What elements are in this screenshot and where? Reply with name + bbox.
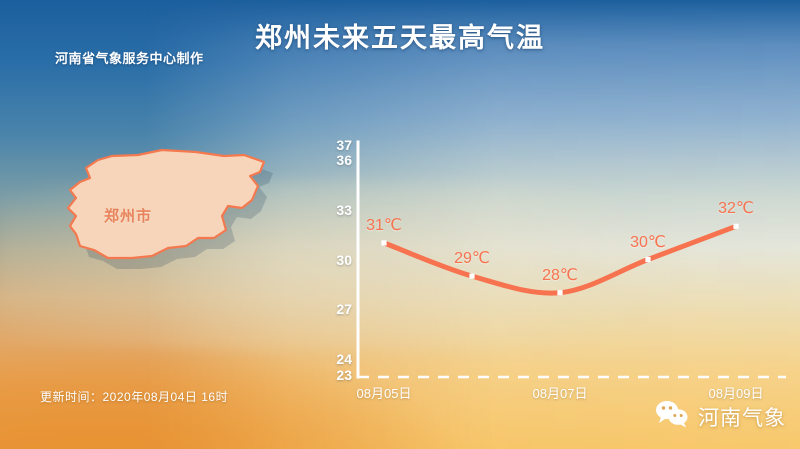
data-point-label: 32℃ — [718, 198, 754, 218]
x-axis-tick: 08月07日 — [533, 383, 588, 402]
wechat-account-name: 河南气象 — [698, 402, 786, 432]
data-point-label: 28℃ — [542, 265, 578, 285]
y-axis-tick: 24 — [318, 351, 352, 367]
data-point-label: 31℃ — [366, 215, 402, 235]
y-axis-tick: 37 — [318, 137, 352, 153]
wechat-account-badge: 河南气象 — [655, 400, 786, 433]
weather-infographic: 郑州未来五天最高气温 河南省气象服务中心制作 郑州市 3736333027242… — [0, 0, 800, 449]
data-point-label: 30℃ — [630, 232, 666, 252]
y-axis-tick: 33 — [318, 202, 352, 218]
temperature-line-chart: 37363330272423 08月05日08月07日08月09日 31℃29℃… — [318, 128, 788, 403]
y-axis-tick: 36 — [318, 152, 352, 168]
y-axis-tick: 30 — [318, 252, 352, 268]
map-outline — [68, 150, 264, 258]
data-point-marker — [733, 224, 738, 229]
data-point-marker — [469, 274, 474, 279]
zhengzhou-map — [48, 148, 286, 296]
update-timestamp: 更新时间：2020年08月04日 16时 — [40, 388, 228, 405]
y-axis-tick: 23 — [318, 367, 352, 383]
producer-credit: 河南省气象服务中心制作 — [55, 48, 204, 67]
map-city-label: 郑州市 — [104, 205, 152, 226]
x-axis-tick: 08月05日 — [357, 383, 412, 402]
data-point-label: 29℃ — [454, 248, 490, 268]
data-point-marker — [381, 240, 386, 245]
data-point-marker — [645, 257, 650, 262]
y-axis-tick: 27 — [318, 301, 352, 317]
data-point-marker — [557, 290, 562, 295]
wechat-icon — [655, 400, 689, 433]
